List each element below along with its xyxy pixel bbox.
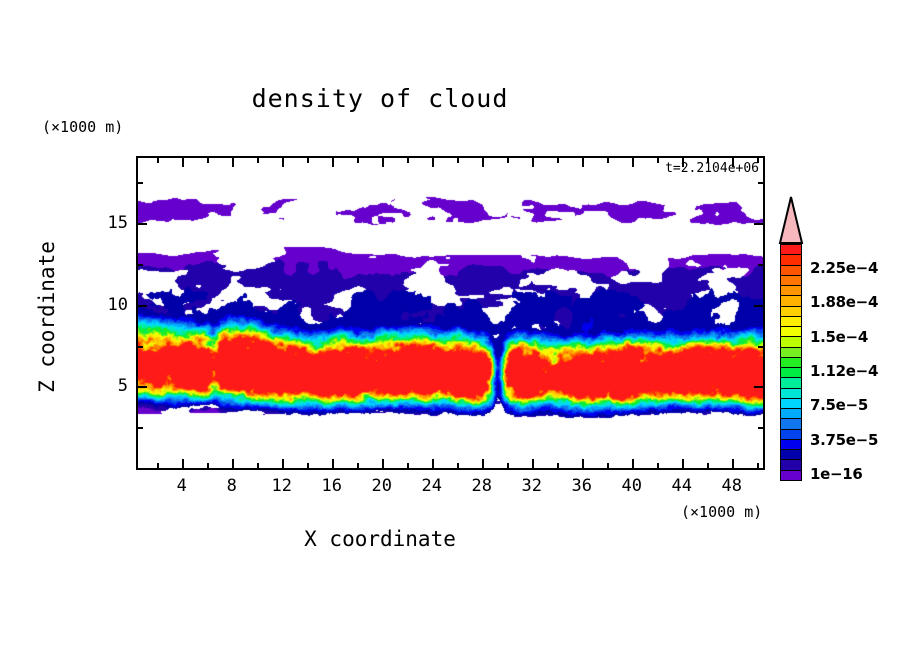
x-tick-minor [657,463,659,468]
colorbar-tick-label: 3.75e−5 [810,431,878,449]
colorbar [778,196,804,480]
x-tick-major [182,459,184,468]
y-tick-major-right [754,305,763,307]
x-tick-major [582,459,584,468]
y-tick-major-right [754,386,763,388]
chart-title: density of cloud [0,84,760,113]
figure-root: density of cloud (×1000 m) (×1000 m) X c… [0,0,904,654]
x-tick-major [382,459,384,468]
x-tick-label: 48 [722,476,742,496]
y-tick-label: 10 [88,295,128,315]
y-tick-label: 5 [88,376,128,396]
y-tick-minor [138,346,143,348]
x-tick-minor-top [207,158,209,163]
x-tick-major [482,459,484,468]
x-tick-minor-top [307,158,309,163]
x-tick-major-top [382,158,384,167]
y-axis-title: Z coordinate [35,237,59,397]
y-tick-minor [138,427,143,429]
colorbar-tick-label: 1.5e−4 [810,328,868,346]
x-tick-minor-top [657,158,659,163]
x-tick-label: 12 [272,476,292,496]
x-tick-major-top [232,158,234,167]
contour-plot-area: t=2.2104e+06 [136,156,765,470]
x-tick-major-top [532,158,534,167]
y-tick-minor-right [758,264,763,266]
y-tick-minor-right [758,346,763,348]
x-tick-minor-top [557,158,559,163]
x-tick-label: 32 [522,476,542,496]
x-tick-minor [607,463,609,468]
x-tick-major-top [332,158,334,167]
x-tick-major [732,459,734,468]
x-tick-major [532,459,534,468]
x-tick-label: 4 [177,476,187,496]
x-tick-label: 20 [372,476,392,496]
y-tick-label: 15 [88,213,128,233]
x-tick-minor-top [257,158,259,163]
y-tick-minor [138,182,143,184]
x-tick-major [282,459,284,468]
y-tick-major [138,305,147,307]
colorbar-tick-label: 2.25e−4 [810,259,878,277]
x-tick-minor-top [607,158,609,163]
x-tick-label: 28 [472,476,492,496]
x-tick-major [232,459,234,468]
x-tick-major [432,459,434,468]
colorbar-tick-label: 7.5e−5 [810,396,868,414]
x-tick-minor [407,463,409,468]
y-tick-major [138,386,147,388]
y-tick-major [138,223,147,225]
timestamp-label: t=2.2104e+06 [665,161,759,176]
y-tick-minor-right [758,182,763,184]
x-tick-minor-top [407,158,409,163]
x-tick-major [332,459,334,468]
x-tick-major-top [482,158,484,167]
x-tick-label: 44 [672,476,692,496]
x-tick-minor [557,463,559,468]
x-tick-minor [457,463,459,468]
x-tick-major [632,459,634,468]
x-tick-minor [307,463,309,468]
x-tick-major-top [432,158,434,167]
x-axis-title: X coordinate [0,527,760,551]
y-tick-minor [138,264,143,266]
y-tick-minor-right [758,427,763,429]
y-tick-major-right [754,223,763,225]
x-tick-minor [207,463,209,468]
x-tick-minor [357,463,359,468]
x-tick-minor [507,463,509,468]
colorbar-tick-label: 1e−16 [810,465,863,483]
colorbar-tick-label: 1.88e−4 [810,293,878,311]
x-tick-minor-top [457,158,459,163]
x-tick-minor [157,463,159,468]
x-axis-unit-label: (×1000 m) [681,503,762,521]
x-tick-label: 40 [622,476,642,496]
x-tick-label: 36 [572,476,592,496]
colorbar-tick-label: 1.12e−4 [810,362,878,380]
x-tick-minor [707,463,709,468]
x-tick-minor-top [357,158,359,163]
cloud-density-field [138,158,763,468]
x-tick-minor-top [507,158,509,163]
x-tick-major-top [182,158,184,167]
colorbar-band [780,470,802,482]
x-tick-label: 16 [322,476,342,496]
colorbar-arrow-icon [778,196,804,244]
x-tick-major-top [582,158,584,167]
x-tick-major-top [282,158,284,167]
x-tick-minor-top [157,158,159,163]
y-axis-unit-label: (×1000 m) [42,118,123,136]
x-tick-minor [757,463,759,468]
x-tick-label: 24 [422,476,442,496]
x-tick-major-top [632,158,634,167]
x-tick-major [682,459,684,468]
x-tick-label: 8 [227,476,237,496]
x-tick-minor [257,463,259,468]
